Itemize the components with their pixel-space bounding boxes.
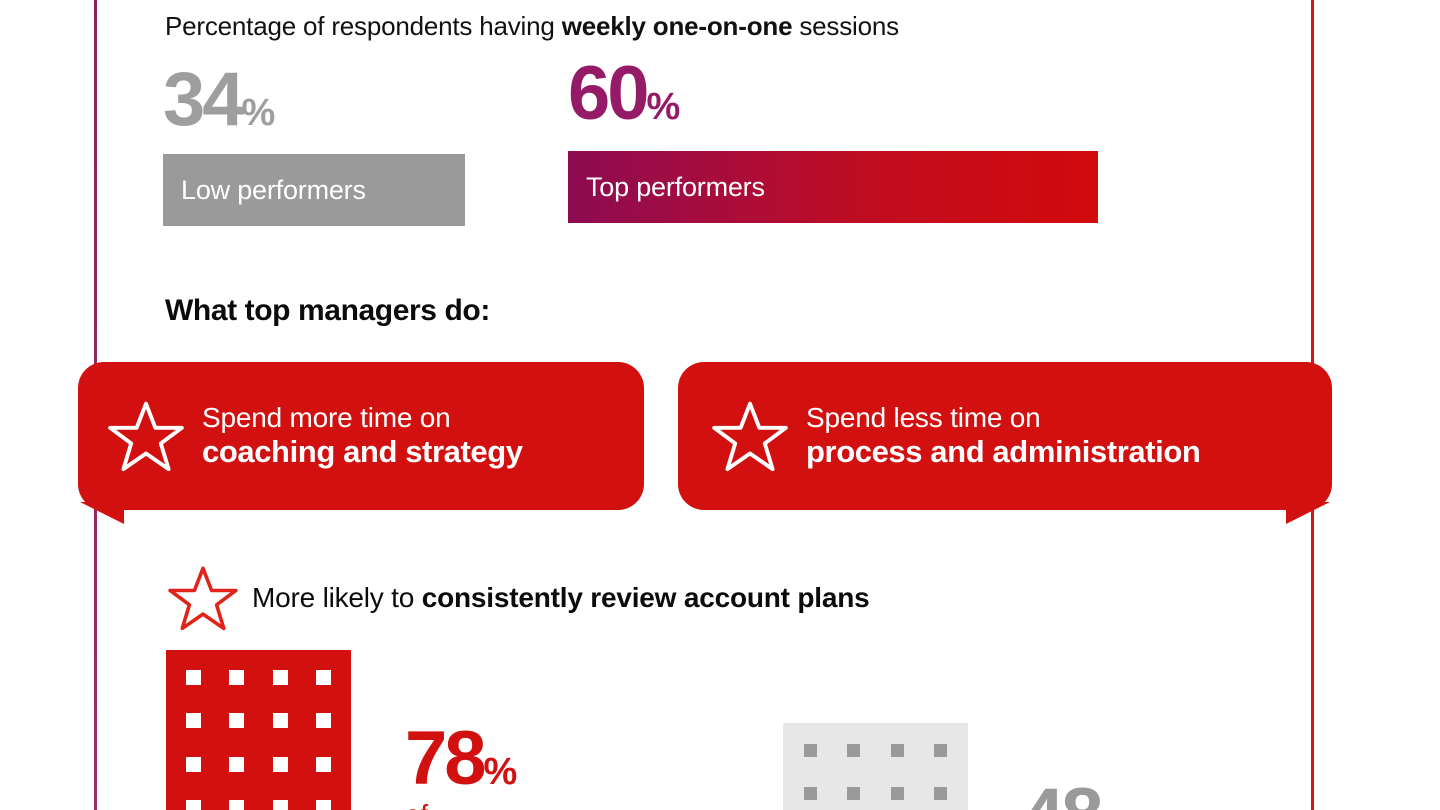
stat-top-performers-percent: % [647,86,680,128]
grid-dot [847,744,860,757]
bubble-tail-left [80,502,124,524]
grid-dots-icon-grey [783,723,968,810]
callout-line-2: process and administration [806,434,1200,471]
callout-line-2: coaching and strategy [202,434,523,471]
grid-dot [273,713,288,728]
grid-dot [186,713,201,728]
review-prefix: More likely to [252,582,422,613]
grid-dots-icon-red [166,650,351,810]
callout-bubble-process-text: Spend less time on process and administr… [806,401,1200,471]
grid-dot [273,757,288,772]
stat-low-performers-value: 34% [163,62,274,138]
bar-top-performers-label: Top performers [568,172,765,203]
grid-dot [934,787,947,800]
bubble-tail-right [1286,502,1330,524]
headline-prefix: Percentage of respondents having [165,11,562,41]
star-icon [704,390,796,482]
stat-top-performers-number: 60 [568,51,647,136]
grid-dot [229,670,244,685]
star-icon [160,555,246,641]
stat-review-plans-number: 78 [405,716,484,801]
headline-suffix: sessions [792,11,899,41]
callout-line-1: Spend less time on [806,401,1200,434]
grid-dot [316,757,331,772]
grid-dot [229,713,244,728]
grid-dot [804,744,817,757]
star-icon [100,390,192,482]
grid-dot [316,670,331,685]
stat-review-plans-grey-number: 48 [1022,773,1101,810]
stat-review-plans-red: 78%of [405,721,516,810]
grid-dot [316,800,331,810]
stat-review-plans-grey: 48 [1022,778,1101,810]
grid-dot [847,787,860,800]
bar-low-performers-label: Low performers [163,175,366,206]
grid-dot [316,713,331,728]
grid-dot [229,800,244,810]
headline-emphasis: weekly one-on-one [562,11,793,41]
review-emphasis: consistently review account plans [422,582,870,613]
grid-dot [273,800,288,810]
headline: Percentage of respondents having weekly … [165,8,899,44]
grid-dot [186,670,201,685]
grid-dot [804,787,817,800]
grid-dot [891,744,904,757]
grid-dot [934,744,947,757]
review-account-plans-text: More likely to consistently review accou… [252,582,870,614]
callout-line-1: Spend more time on [202,401,523,434]
grid-dot [186,757,201,772]
stat-review-plans-percent: % [484,751,517,793]
bar-low-performers: Low performers [163,154,465,226]
callout-bubble-coaching-text: Spend more time on coaching and strategy [202,401,523,471]
grid-dot [273,670,288,685]
callout-bubble-coaching: Spend more time on coaching and strategy [78,362,644,510]
stat-low-performers-number: 34 [163,57,242,142]
stat-top-performers-value: 60% [568,56,679,132]
bar-top-performers: Top performers [568,151,1098,223]
grid-dot [891,787,904,800]
review-account-plans-row: More likely to consistently review accou… [160,555,870,641]
section-heading: What top managers do: [165,294,490,328]
grid-dot [186,800,201,810]
callout-bubble-process: Spend less time on process and administr… [678,362,1332,510]
stat-low-performers-percent: % [242,92,275,134]
infographic-canvas: Percentage of respondents having weekly … [0,0,1440,810]
stat-review-plans-sub: of [405,801,516,810]
grid-dot [229,757,244,772]
